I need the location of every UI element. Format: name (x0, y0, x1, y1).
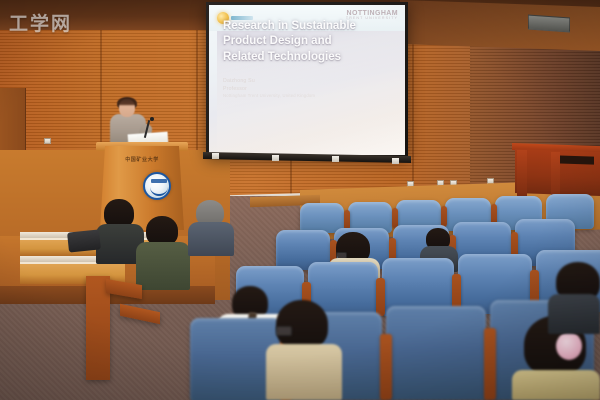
attendee-torso (548, 294, 600, 334)
attendee-bag (67, 229, 101, 252)
hair-scrunchie (556, 332, 582, 360)
podium-nameplate: 中国矿业大学 (108, 156, 176, 163)
screen-clip (212, 153, 219, 159)
seat-armrest (376, 278, 385, 316)
attendee-torso (512, 370, 600, 400)
slide-title: Research in Sustainable Product Design a… (223, 19, 388, 65)
seat-armrest (484, 328, 496, 400)
wall-outlet[interactable] (44, 138, 51, 144)
seat[interactable] (386, 306, 486, 400)
university-seal-icon (143, 172, 171, 200)
screen-clip (332, 156, 339, 162)
side-desk-leg (517, 150, 527, 196)
ceiling-soffit (400, 0, 600, 51)
seat-armrest (441, 206, 447, 227)
screen-clip (392, 158, 399, 164)
seat-armrest (344, 210, 350, 230)
slide-affiliation: Nottingham Trent University, United King… (223, 93, 398, 100)
attendee-torso (266, 344, 342, 400)
projected-slide: NOTTINGHAM TRENT UNIVERSITY Research in … (209, 5, 405, 155)
projection-screen: NOTTINGHAM TRENT UNIVERSITY Research in … (206, 2, 408, 158)
lecture-hall-photo: NOTTINGHAM TRENT UNIVERSITY Research in … (0, 0, 600, 400)
slide-title-line-1: Research in Sustainable (223, 19, 388, 34)
slide-presenter-role: Professor (223, 85, 398, 93)
seat-armrest (380, 334, 392, 400)
microphone-icon (150, 117, 154, 121)
slide-presenter-name: Daizhong Su (223, 77, 398, 85)
side-desk-opening (556, 155, 594, 164)
slide-title-line-2: Product Design and (223, 34, 388, 49)
attendee-head (276, 300, 328, 350)
presenter-head (119, 99, 135, 117)
slide-title-line-3: Related Technologies (223, 50, 388, 65)
wall-speaker-icon (528, 15, 570, 33)
side-desk-leg (551, 152, 560, 198)
attendee-torso (188, 222, 234, 256)
attendee-glasses (276, 326, 292, 336)
seal-inner-mark (151, 179, 167, 183)
slide-subtitle: Daizhong Su Professor Nottingham Trent U… (223, 77, 398, 100)
screen-clip (272, 155, 279, 161)
attendee-torso (136, 242, 190, 290)
